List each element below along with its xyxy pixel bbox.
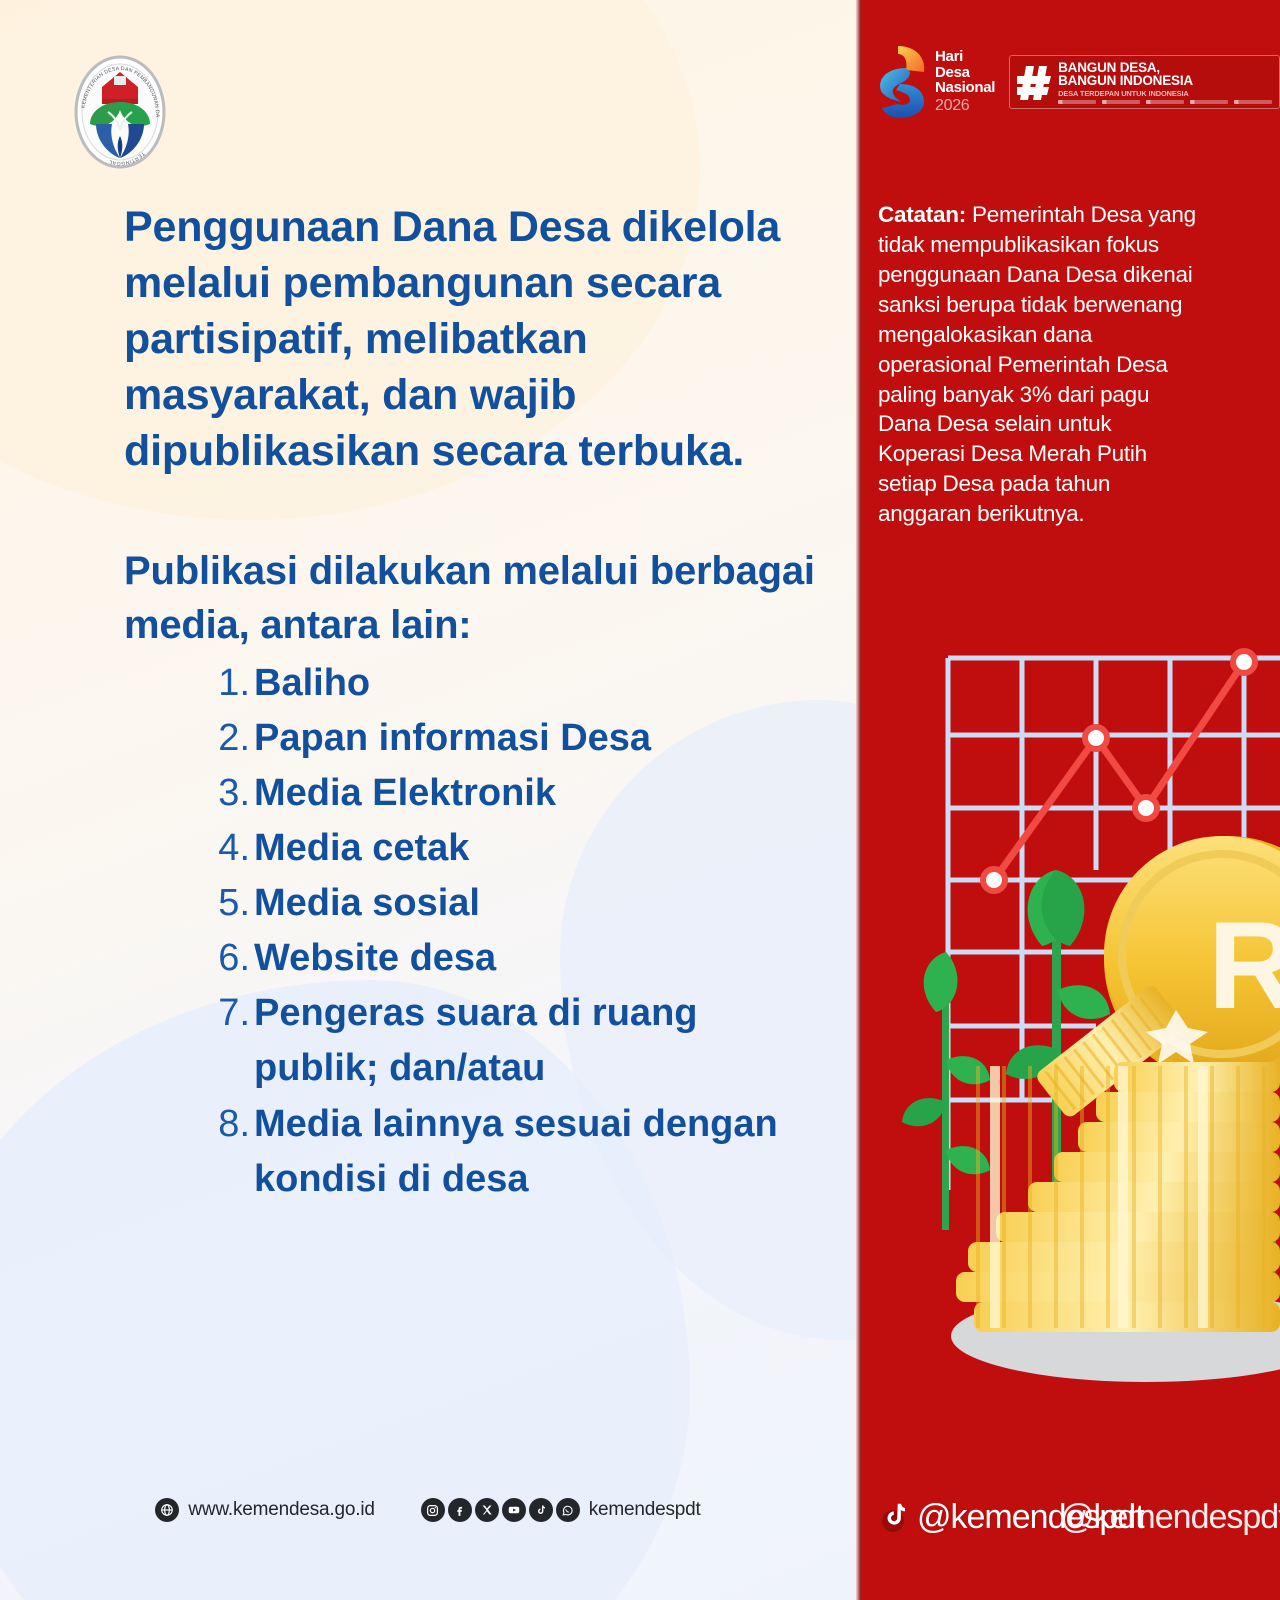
page-subheadline: Publikasi dilakukan melalui berbagai med… bbox=[124, 545, 824, 651]
hdn-line1: Hari bbox=[935, 49, 995, 65]
social-icon-row bbox=[421, 1498, 580, 1522]
coin-letter: R bbox=[1208, 897, 1280, 1035]
note-block: Catatan: Pemerintah Desa yang tidak memp… bbox=[878, 200, 1198, 529]
illustration-graphic: R bbox=[856, 630, 1280, 1430]
microtext-chip bbox=[1190, 100, 1228, 104]
ministry-logo-icon: KEMENTERIAN DESA DAN PEMBANGUNAN DAERAH … bbox=[68, 50, 172, 174]
list-item: Media Elektronik bbox=[210, 766, 824, 821]
right-red-panel: Hari Desa Nasional 2026 BANG bbox=[856, 0, 1280, 1600]
bangun-line1: BANGUN DESA, bbox=[1058, 61, 1272, 75]
hari-desa-nasional-logo: Hari Desa Nasional 2026 bbox=[876, 44, 995, 120]
list-item: Pengeras suara di ruang publik; dan/atau bbox=[210, 986, 824, 1096]
instagram-icon[interactable] bbox=[421, 1498, 445, 1522]
x-twitter-icon[interactable] bbox=[475, 1498, 499, 1522]
microtext-chip bbox=[1058, 100, 1096, 104]
list-item: Website desa bbox=[210, 931, 824, 986]
microtext-chip bbox=[1146, 100, 1184, 104]
hdn-text-block: Hari Desa Nasional 2026 bbox=[935, 49, 995, 115]
media-list: Baliho Papan informasi Desa Media Elektr… bbox=[124, 656, 824, 1207]
whatsapp-icon[interactable] bbox=[556, 1498, 580, 1522]
tiktok-handle-ghost: @kemendespdt bbox=[1060, 1498, 1280, 1537]
list-item: Papan informasi Desa bbox=[210, 711, 824, 766]
social-handle: kemendespdt bbox=[589, 1499, 701, 1521]
microtext-chip bbox=[1234, 100, 1272, 104]
bangun-microtext-row bbox=[1058, 100, 1272, 104]
microtext-chip bbox=[1102, 100, 1140, 104]
note-body: Pemerintah Desa yang tidak mempublikasik… bbox=[878, 202, 1196, 526]
hdn-mark-icon bbox=[876, 44, 928, 120]
list-item: Media lainnya sesuai dengan kondisi di d… bbox=[210, 1097, 824, 1207]
social-group[interactable]: kemendespdt bbox=[421, 1498, 701, 1522]
website-group[interactable]: www.kemendesa.go.id bbox=[155, 1498, 374, 1522]
infographic-poster: KEMENTERIAN DESA DAN PEMBANGUNAN DAERAH … bbox=[0, 0, 1280, 1600]
coin-stack-group bbox=[956, 1062, 1280, 1332]
list-item: Media sosial bbox=[210, 876, 824, 931]
footer-bar: www.kemendesa.go.id bbox=[0, 1498, 856, 1522]
bangun-tagline: DESA TERDEPAN UNTUK INDONESIA bbox=[1058, 90, 1272, 97]
note-title: Catatan: bbox=[878, 202, 966, 227]
globe-icon bbox=[155, 1498, 179, 1522]
hdn-line3: Nasional bbox=[935, 80, 995, 96]
hdn-line2: Desa bbox=[935, 65, 995, 81]
website-url: www.kemendesa.go.id bbox=[188, 1499, 374, 1521]
hashtag-icon bbox=[1017, 64, 1051, 102]
facebook-icon[interactable] bbox=[448, 1498, 472, 1522]
bangun-desa-logo: BANGUN DESA, BANGUN INDONESIA DESA TERDE… bbox=[1009, 55, 1280, 109]
tiktok-icon[interactable] bbox=[529, 1498, 553, 1522]
bangun-line2: BANGUN INDONESIA bbox=[1058, 74, 1272, 88]
panel-divider bbox=[856, 0, 861, 1600]
campaign-logo-row: Hari Desa Nasional 2026 BANG bbox=[876, 44, 1280, 120]
bangun-text-block: BANGUN DESA, BANGUN INDONESIA DESA TERDE… bbox=[1058, 61, 1272, 104]
page-headline: Penggunaan Dana Desa dikelola melalui pe… bbox=[124, 200, 824, 479]
youtube-icon[interactable] bbox=[502, 1498, 526, 1522]
hdn-year: 2026 bbox=[935, 98, 995, 115]
list-item: Media cetak bbox=[210, 821, 824, 876]
tiktok-icon bbox=[880, 1498, 910, 1537]
list-item: Baliho bbox=[210, 656, 824, 711]
main-content: Penggunaan Dana Desa dikelola melalui pe… bbox=[124, 200, 824, 1207]
